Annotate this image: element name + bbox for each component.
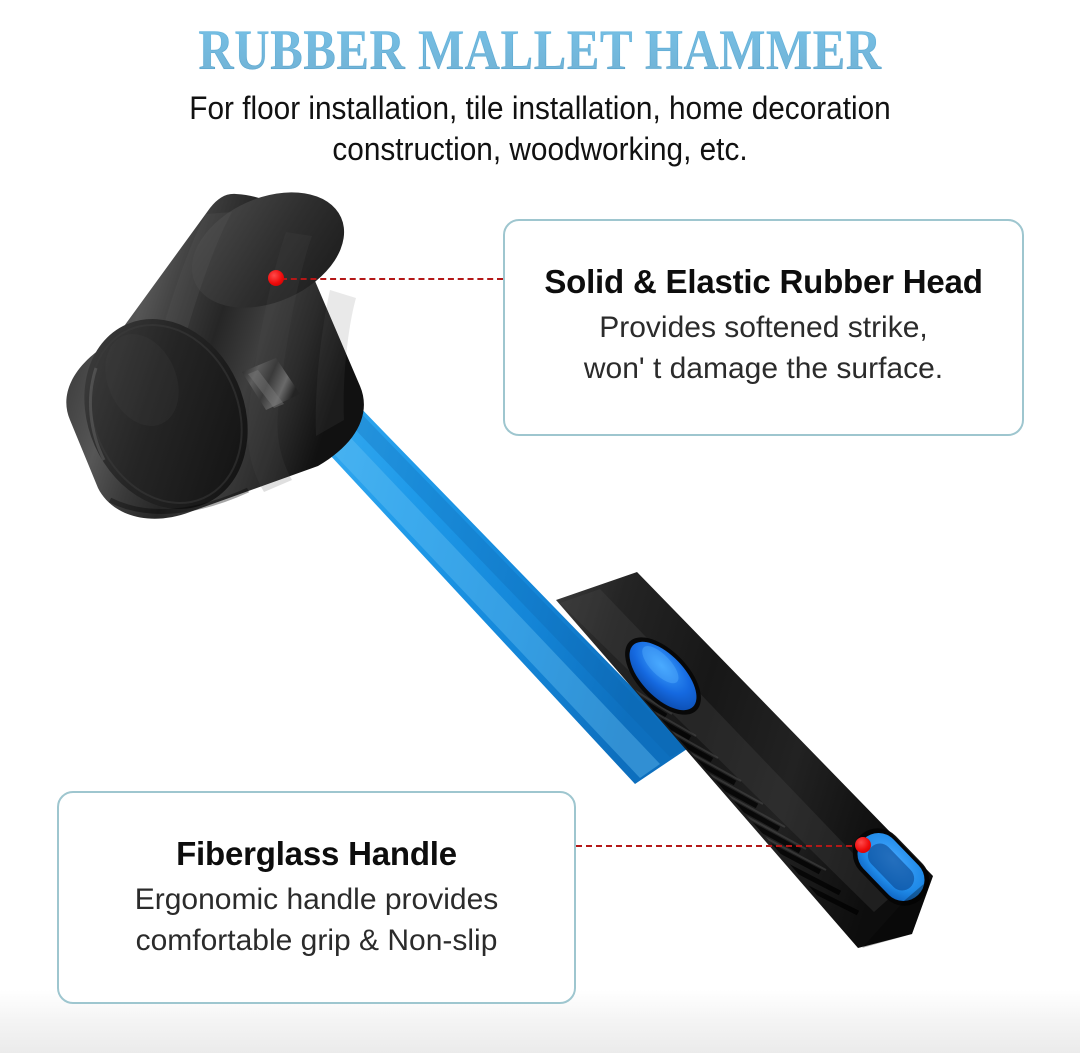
callout-rubber-head: Solid & Elastic Rubber Head Provides sof… [503, 219, 1024, 436]
leader-dot-fiberglass-handle [855, 837, 871, 853]
callout-fiberglass-handle-title: Fiberglass Handle [59, 835, 574, 873]
rubber-head [55, 170, 364, 535]
callout-rubber-head-body-line-1: Provides softened strike, [505, 307, 1022, 348]
callout-fiberglass-handle-body: Ergonomic handle provides comfortable gr… [59, 879, 574, 962]
leader-line-rubber-head [281, 278, 503, 280]
page-title: RUBBER MALLET HAMMER [76, 0, 1005, 79]
callout-rubber-head-body: Provides softened strike, won' t damage … [505, 307, 1022, 390]
callout-rubber-head-title: Solid & Elastic Rubber Head [505, 263, 1022, 301]
leader-dot-rubber-head [268, 270, 284, 286]
header: RUBBER MALLET HAMMER For floor installat… [0, 0, 1080, 169]
handle-grip [556, 572, 940, 948]
infographic-page: RUBBER MALLET HAMMER For floor installat… [0, 0, 1080, 1053]
subtitle-line-2: construction, woodworking, etc. [38, 129, 1042, 170]
ferrule [242, 358, 300, 410]
hanging-hole [842, 818, 939, 916]
callout-fiberglass-handle-body-line-1: Ergonomic handle provides [59, 879, 574, 920]
callout-rubber-head-body-line-2: won' t damage the surface. [505, 348, 1022, 389]
callout-fiberglass-handle: Fiberglass Handle Ergonomic handle provi… [57, 791, 576, 1004]
callout-fiberglass-handle-body-line-2: comfortable grip & Non-slip [59, 920, 574, 961]
subtitle-line-1: For floor installation, tile installatio… [38, 88, 1042, 129]
page-subtitle: For floor installation, tile installatio… [38, 79, 1042, 169]
leader-line-fiberglass-handle [576, 845, 862, 847]
grip-oval-accent [612, 624, 715, 728]
